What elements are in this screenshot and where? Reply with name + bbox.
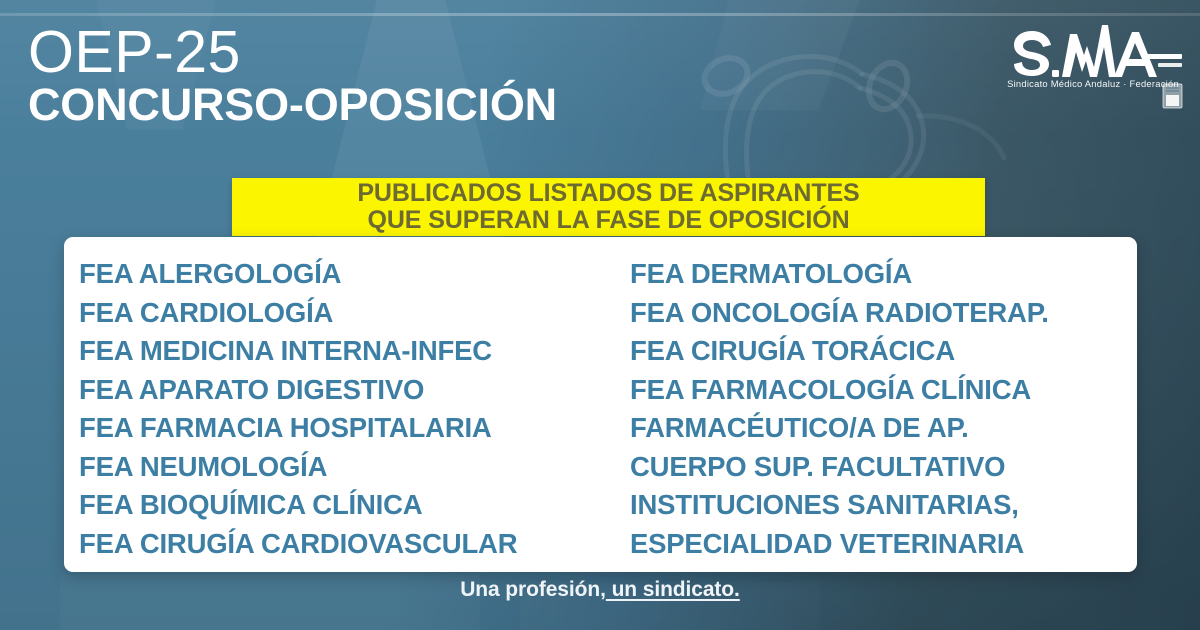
list-item: FEA DERMATOLOGÍA bbox=[630, 255, 1130, 294]
specialties-card: FEA ALERGOLOGÍA FEA CARDIOLOGÍA FEA MEDI… bbox=[64, 237, 1137, 572]
sma-logo-tagline: Sindicato Médico Andaluz · Federación bbox=[998, 78, 1188, 89]
list-item: FEA MEDICINA INTERNA-INFEC bbox=[79, 332, 630, 371]
list-item: FEA ONCOLOGÍA RADIOTERAP. bbox=[630, 294, 1130, 333]
title-line-oep: OEP-25 bbox=[28, 24, 557, 80]
page-title: OEP-25 CONCURSO-OPOSICIÓN bbox=[28, 24, 557, 129]
list-item: FARMACÉUTICO/A DE AP. bbox=[630, 409, 1130, 448]
poster-canvas: OEP-25 CONCURSO-OPOSICIÓN Sindicato Médi… bbox=[0, 0, 1200, 630]
list-item: CUERPO SUP. FACULTATIVO bbox=[630, 448, 1130, 487]
specialties-column-left: FEA ALERGOLOGÍA FEA CARDIOLOGÍA FEA MEDI… bbox=[64, 255, 630, 572]
list-item: FEA APARATO DIGESTIVO bbox=[79, 371, 630, 410]
highlight-banner: PUBLICADOS LISTADOS DE ASPIRANTES QUE SU… bbox=[232, 178, 985, 236]
list-item: FEA CARDIOLOGÍA bbox=[79, 294, 630, 333]
footer-slogan-emphasis: un sindicato. bbox=[606, 578, 740, 601]
list-item: FEA ALERGOLOGÍA bbox=[79, 255, 630, 294]
sma-logo-mark-icon bbox=[1006, 24, 1184, 82]
list-item: ESPECIALIDAD VETERINARIA bbox=[630, 525, 1130, 564]
title-line-concurso: CONCURSO-OPOSICIÓN bbox=[28, 82, 557, 129]
list-item: FEA BIOQUÍMICA CLÍNICA bbox=[79, 486, 630, 525]
sma-logo[interactable]: Sindicato Médico Andaluz · Federación bbox=[998, 24, 1188, 114]
list-item: INSTITUCIONES SANITARIAS, bbox=[630, 486, 1130, 525]
footer-slogan-plain: Una profesión, bbox=[460, 578, 606, 601]
document-icon bbox=[1161, 82, 1185, 110]
list-item: FEA CIRUGÍA TORÁCICA bbox=[630, 332, 1130, 371]
list-item: FEA CIRUGÍA CARDIOVASCULAR bbox=[79, 525, 630, 564]
banner-line-2: QUE SUPERAN LA FASE DE OPOSICIÓN bbox=[367, 207, 849, 234]
list-item: FEA FARMACOLOGÍA CLÍNICA bbox=[630, 371, 1130, 410]
list-item: FEA FARMACIA HOSPITALARIA bbox=[79, 409, 630, 448]
list-item: FEA NEUMOLOGÍA bbox=[79, 448, 630, 487]
banner-line-1: PUBLICADOS LISTADOS DE ASPIRANTES bbox=[357, 180, 859, 207]
specialties-column-right: FEA DERMATOLOGÍA FEA ONCOLOGÍA RADIOTERA… bbox=[630, 255, 1130, 572]
footer-slogan: Una profesión, un sindicato. bbox=[0, 578, 1200, 602]
